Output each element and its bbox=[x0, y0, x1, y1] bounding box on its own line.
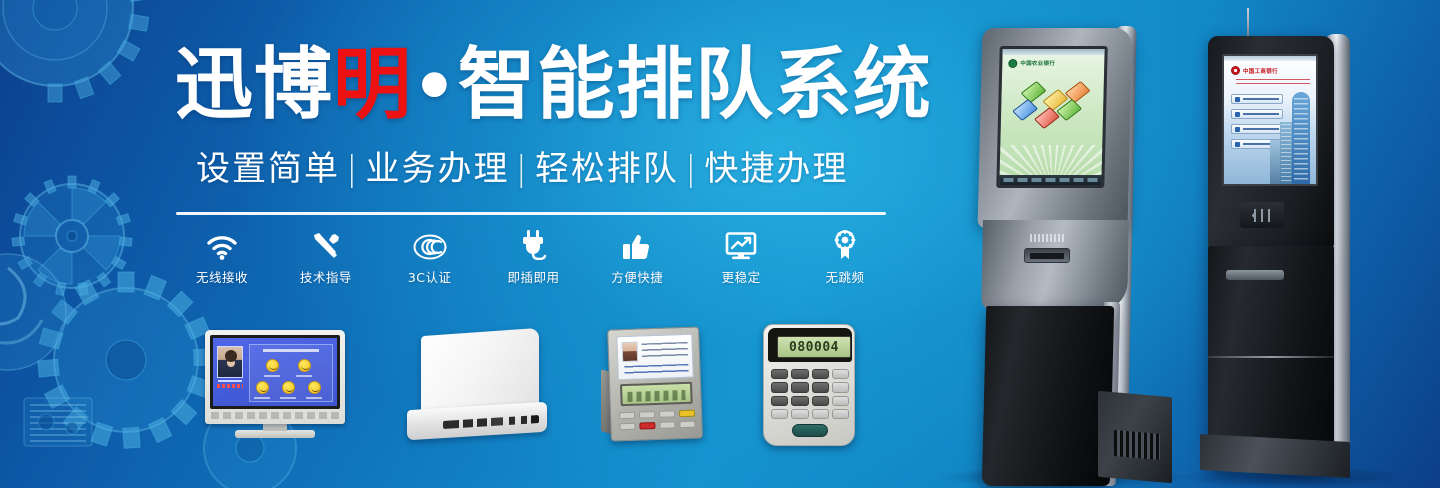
subtitle-item-2: 业务办理 bbox=[365, 149, 509, 189]
keypad-key[interactable] bbox=[812, 382, 829, 392]
skyline-building bbox=[1280, 122, 1292, 184]
keypad-key[interactable] bbox=[791, 409, 808, 419]
skyline-building bbox=[1270, 140, 1280, 184]
id-card-slogan bbox=[624, 364, 688, 377]
emoji-very-unsatisfied bbox=[308, 381, 321, 394]
product-evaluation-monitor bbox=[205, 330, 345, 440]
kiosk-b-screen[interactable]: 中国工商银行 bbox=[1222, 54, 1318, 186]
monitor-body bbox=[205, 330, 345, 424]
emoji-label bbox=[296, 375, 312, 377]
keypad-buttons bbox=[771, 369, 849, 419]
kiosk-b-skyline-graphic bbox=[1266, 88, 1312, 184]
menu-bullet-icon bbox=[1235, 97, 1240, 102]
id-card-text-lines bbox=[642, 342, 689, 360]
emoji-label bbox=[264, 375, 280, 377]
kiosk-b-base bbox=[1200, 434, 1350, 478]
tools-icon bbox=[311, 226, 341, 260]
keypad-key[interactable] bbox=[832, 369, 849, 379]
kiosk-b-bank-name: 中国工商银行 bbox=[1243, 67, 1278, 75]
keypad-lcd: 080004 bbox=[777, 336, 851, 358]
kiosk-a-bank-name: 中国农业银行 bbox=[1020, 59, 1055, 67]
evaluator-key-red[interactable] bbox=[639, 422, 655, 430]
service-tile[interactable] bbox=[1065, 81, 1091, 103]
staff-photo bbox=[217, 346, 243, 378]
abc-logo-icon bbox=[1008, 59, 1017, 68]
evaluator-key[interactable] bbox=[679, 421, 695, 429]
rating-stars bbox=[217, 384, 243, 388]
award-ribbon-icon bbox=[832, 226, 858, 260]
evaluator-key[interactable] bbox=[659, 421, 675, 429]
emoji-satisfied bbox=[298, 359, 311, 372]
keypad-key[interactable] bbox=[771, 369, 788, 379]
keypad-key[interactable] bbox=[832, 396, 849, 406]
monitor-control-keys bbox=[211, 412, 339, 419]
kiosk-a-screen-bottombar bbox=[999, 175, 1107, 185]
product-showcase: 080004 bbox=[185, 318, 905, 458]
feature-label: 3C认证 bbox=[408, 267, 452, 286]
keypad-call-button[interactable] bbox=[792, 424, 828, 437]
feature-item-no-frequency-hopping: 无跳频 bbox=[799, 226, 891, 286]
kiosk-a-bank-brand: 中国农业银行 bbox=[1008, 58, 1098, 68]
menu-bullet-icon bbox=[1235, 112, 1240, 117]
feature-list: 无线接收 技术指导 bbox=[176, 226, 891, 288]
menu-bullet-icon bbox=[1235, 127, 1240, 132]
monitor-neck bbox=[263, 423, 287, 431]
kiosk-b-body-seam bbox=[1208, 356, 1334, 358]
title-part-1: 迅博 bbox=[175, 40, 333, 130]
emoji-unsatisfied bbox=[282, 381, 295, 394]
kiosk-b-screen-slogan bbox=[1236, 79, 1310, 86]
subtitle: 设置简单|业务办理|轻松排队|快捷办理 bbox=[196, 148, 848, 190]
keypad-key[interactable] bbox=[771, 382, 788, 392]
monitor-base bbox=[235, 430, 315, 438]
desk-evaluator-body bbox=[607, 326, 703, 441]
queue-kiosk-icbc: 中国工商银行 bbox=[1192, 8, 1382, 488]
keypad-key[interactable] bbox=[791, 382, 808, 392]
product-desk-evaluator bbox=[593, 322, 713, 446]
icbc-logo-icon bbox=[1231, 66, 1240, 75]
emoji-label bbox=[280, 397, 296, 399]
subtitle-separator-3: | bbox=[679, 149, 704, 189]
feature-item-wireless: 无线接收 bbox=[176, 226, 268, 286]
staff-id-card bbox=[616, 334, 693, 381]
keypad-body: 080004 bbox=[763, 324, 855, 446]
staff-name-line bbox=[218, 380, 242, 382]
keypad-key[interactable] bbox=[832, 382, 849, 392]
keypad-key[interactable] bbox=[812, 369, 829, 379]
id-card-photo bbox=[622, 342, 639, 363]
ccc-icon bbox=[413, 226, 447, 260]
page-title: 迅博明•智能排队系统 bbox=[175, 42, 932, 130]
feature-item-technical-support: 技术指导 bbox=[280, 226, 372, 286]
menu-bullet-icon bbox=[1235, 142, 1240, 147]
headline-block: 迅博明•智能排队系统 设置简单|业务办理|轻松排队|快捷办理 无线接收 bbox=[0, 0, 920, 300]
subtitle-separator-1: | bbox=[340, 149, 365, 189]
queue-kiosk-abc: 中国农业银行 · · · · · · · · · · bbox=[962, 20, 1162, 488]
plug-icon bbox=[519, 226, 547, 260]
emoji-label bbox=[254, 397, 270, 399]
evaluator-key[interactable] bbox=[619, 412, 635, 420]
divider-line bbox=[176, 212, 886, 215]
evaluator-key-yellow[interactable] bbox=[679, 410, 695, 418]
kiosk-b-ticket-slot[interactable] bbox=[1226, 270, 1284, 280]
emoji-neutral bbox=[256, 381, 269, 394]
title-highlight-char: 明 bbox=[333, 40, 412, 130]
evaluation-panel bbox=[249, 344, 333, 402]
kiosk-a-body bbox=[982, 306, 1114, 486]
kiosk-b-screen-topbar bbox=[1224, 56, 1316, 61]
keypad-key[interactable] bbox=[791, 369, 808, 379]
feature-item-convenient: 方便快捷 bbox=[591, 226, 683, 286]
desk-evaluator-keypad bbox=[619, 410, 696, 439]
feature-label: 技术指导 bbox=[300, 267, 352, 286]
product-calling-keypad: 080004 bbox=[763, 324, 855, 446]
feature-label: 即插即用 bbox=[507, 267, 559, 286]
wifi-icon bbox=[206, 226, 238, 260]
subtitle-separator-2: | bbox=[509, 149, 534, 189]
feature-item-3c-certified: 3C认证 bbox=[384, 226, 476, 286]
kiosk-b-card-reader[interactable] bbox=[1240, 202, 1284, 228]
kiosk-a-brand-plate bbox=[1030, 234, 1064, 242]
keypad-display-housing: 080004 bbox=[768, 328, 852, 362]
evaluator-key[interactable] bbox=[659, 410, 675, 418]
kiosk-a-screen[interactable]: 中国农业银行 · · · · · · · · · · bbox=[996, 46, 1107, 188]
evaluator-key[interactable] bbox=[619, 423, 635, 431]
monitor-chart-icon bbox=[725, 226, 757, 260]
keypad-key[interactable] bbox=[771, 396, 788, 406]
feature-label: 无跳频 bbox=[825, 267, 864, 286]
keypad-key[interactable] bbox=[791, 396, 808, 406]
keypad-lcd-value: 080004 bbox=[789, 340, 839, 355]
emoji-label bbox=[306, 397, 322, 399]
kiosk-a-vent-grille bbox=[1114, 430, 1160, 460]
subtitle-item-1: 设置简单 bbox=[196, 149, 340, 189]
keypad-key[interactable] bbox=[812, 396, 829, 406]
kiosk-a-service-tiles bbox=[1010, 81, 1100, 143]
keypad-key[interactable] bbox=[771, 409, 788, 419]
evaluation-prompt bbox=[263, 349, 319, 352]
emoji-very-satisfied bbox=[266, 359, 279, 372]
skyline-tower bbox=[1292, 92, 1310, 184]
thumbs-up-icon bbox=[622, 226, 652, 260]
subtitle-item-3: 轻松排队 bbox=[535, 149, 679, 189]
feature-item-more-stable: 更稳定 bbox=[695, 226, 787, 286]
kiosk-a-screen-subtitle: · · · · · · · · · · bbox=[1016, 70, 1038, 74]
kiosk-a-ticket-slot[interactable] bbox=[1024, 248, 1070, 263]
title-part-2: 智能排队系统 bbox=[458, 40, 932, 130]
feature-label: 无线接收 bbox=[196, 267, 248, 286]
monitor-bezel bbox=[210, 335, 340, 409]
product-host-controller bbox=[407, 332, 547, 440]
desk-evaluator-lcd bbox=[620, 382, 693, 406]
kiosk-b-bank-brand: 中国工商银行 bbox=[1231, 66, 1278, 75]
kiosk-a-screen-topbar bbox=[1003, 49, 1108, 55]
subtitle-item-4: 快捷办理 bbox=[704, 149, 848, 189]
keypad-key[interactable] bbox=[812, 409, 829, 419]
promo-banner: 迅博明•智能排队系统 设置简单|业务办理|轻松排队|快捷办理 无线接收 bbox=[0, 0, 1440, 488]
keypad-key[interactable] bbox=[832, 409, 849, 419]
monitor-screen bbox=[213, 338, 337, 406]
feature-label: 更稳定 bbox=[722, 267, 761, 286]
feature-item-plug-and-play: 即插即用 bbox=[487, 226, 579, 286]
evaluator-key[interactable] bbox=[639, 411, 655, 419]
title-bullet: • bbox=[412, 46, 458, 128]
feature-label: 方便快捷 bbox=[611, 267, 663, 286]
